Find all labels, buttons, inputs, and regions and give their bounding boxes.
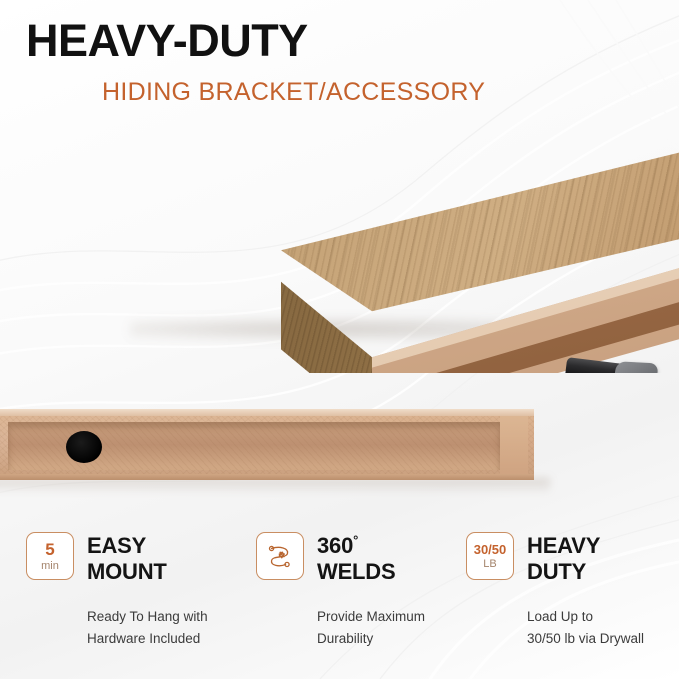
badge-value: 30/50 <box>474 543 507 556</box>
feature-list: 5 min EASY MOUNT Ready To Hang with Hard… <box>0 520 679 679</box>
feature-description: Ready To Hang with Hardware Included <box>87 606 236 650</box>
feature-header: 360° WELDS <box>256 532 456 584</box>
weld-badge <box>256 532 304 580</box>
cross-section-bottom-lip <box>0 474 534 480</box>
cross-section-shadow <box>0 478 550 494</box>
feature-title-line2: MOUNT <box>87 559 167 585</box>
badge-unit: min <box>41 561 59 572</box>
feature-easy-mount: 5 min EASY MOUNT Ready To Hang with Hard… <box>26 532 236 650</box>
page-subtitle: HIDING BRACKET/ACCESSORY <box>102 80 485 105</box>
feature-title-line1: HEAVY <box>527 533 600 559</box>
feature-header: 30/50 LB HEAVY DUTY <box>466 532 671 584</box>
feature-description: Load Up to 30/50 lb via Drywall <box>527 606 671 650</box>
badge-unit: LB <box>483 559 496 570</box>
header-block: HEAVY-DUTY HIDING BRACKET/ACCESSORY <box>26 18 485 105</box>
feature-title-line2: DUTY <box>527 559 600 585</box>
feature-360-welds: 360° WELDS Provide Maximum Durability <box>256 532 456 650</box>
cross-section-top-lip <box>0 409 534 416</box>
page-title: HEAVY-DUTY <box>26 18 485 63</box>
degree-symbol: ° <box>353 533 358 548</box>
hero-product-image <box>0 118 679 373</box>
feature-title-line1: EASY <box>87 533 167 559</box>
feature-heavy-duty: 30/50 LB HEAVY DUTY Load Up to 30/50 lb … <box>466 532 671 650</box>
badge-value: 5 <box>45 541 54 558</box>
feature-title: EASY MOUNT <box>87 532 167 584</box>
load-capacity-badge: 30/50 LB <box>466 532 514 580</box>
cross-section-end-wall <box>500 416 528 476</box>
weld-path-icon <box>265 541 295 571</box>
feature-title-line2: WELDS <box>317 559 395 585</box>
feature-title: HEAVY DUTY <box>527 532 600 584</box>
cross-section-product-image <box>0 398 679 498</box>
feature-title-line1-wrap: 360° <box>317 533 395 559</box>
feature-title-line1: 360 <box>317 533 353 558</box>
product-infographic: HEAVY-DUTY HIDING BRACKET/ACCESSORY 5 mi… <box>0 0 679 679</box>
feature-header: 5 min EASY MOUNT <box>26 532 236 584</box>
feature-title: 360° WELDS <box>317 532 395 584</box>
mounting-hole <box>66 431 102 463</box>
time-badge: 5 min <box>26 532 74 580</box>
feature-description: Provide Maximum Durability <box>317 606 456 650</box>
